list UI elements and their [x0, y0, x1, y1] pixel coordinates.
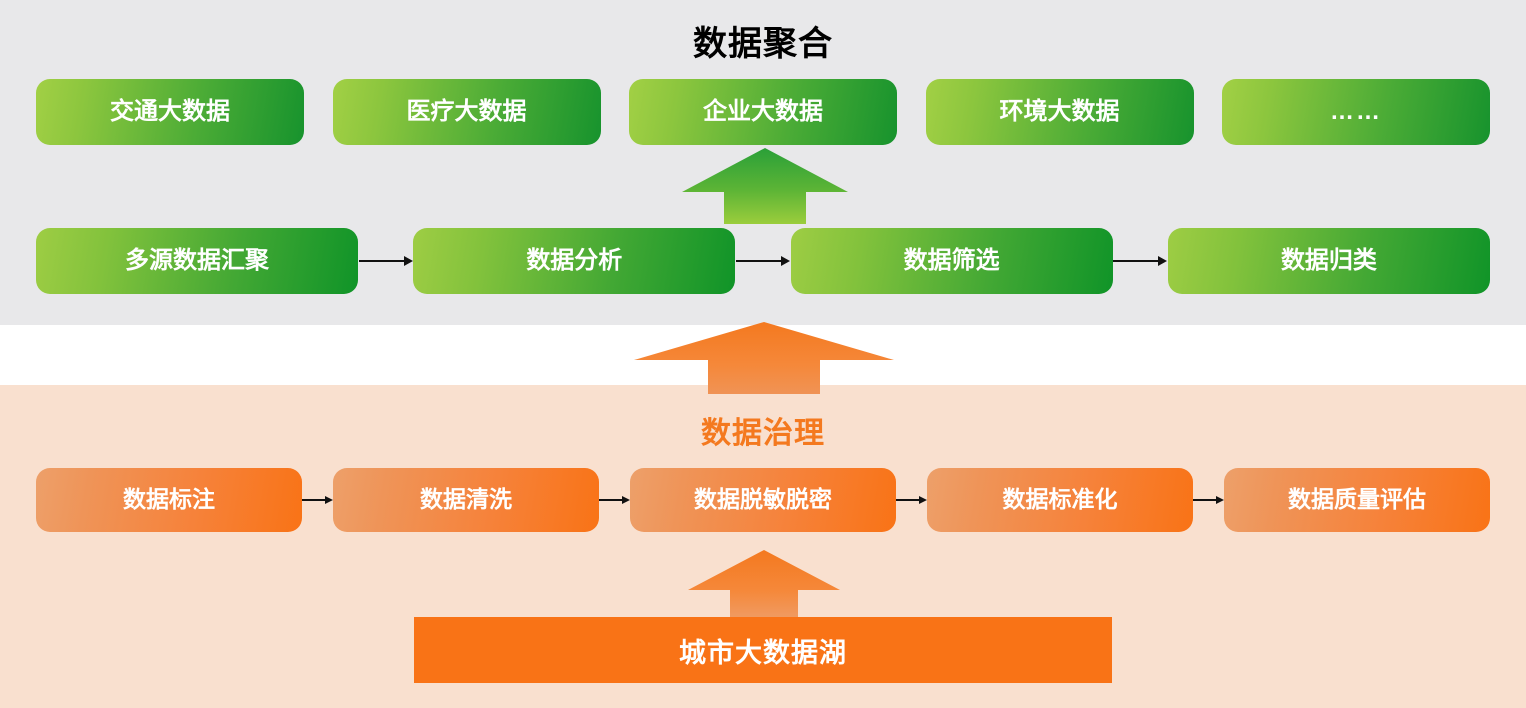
- source-chip[interactable]: 交通大数据: [36, 79, 304, 145]
- source-chip-more[interactable]: ……: [1222, 79, 1490, 145]
- pipeline-chip-label: 数据筛选: [904, 248, 1000, 274]
- governance-chip-label: 数据清洗: [420, 487, 512, 512]
- pipeline-chip-label: 数据归类: [1281, 248, 1377, 274]
- arrow-head: [325, 496, 333, 504]
- source-chip-label: 交通大数据: [110, 99, 230, 125]
- arrow-shaft: [599, 499, 623, 501]
- up-arrow-orange-icon: [634, 322, 894, 394]
- arrow-shaft: [896, 499, 920, 501]
- pipeline-chip-row: 多源数据汇聚 数据分析 数据筛选 数据归类: [36, 228, 1490, 294]
- pipeline-chip[interactable]: 数据筛选: [791, 228, 1113, 294]
- arrow-right-icon: [736, 256, 790, 266]
- governance-chip[interactable]: 数据标准化: [927, 468, 1193, 532]
- governance-chip-row: 数据标注 数据清洗 数据脱敏脱密 数据标准化 数据质量评估: [36, 468, 1490, 532]
- arrow-right-icon: [359, 256, 413, 266]
- source-chip-label: ……: [1330, 99, 1382, 125]
- data-lake-label: 城市大数据湖: [679, 631, 847, 670]
- source-chip[interactable]: 企业大数据: [629, 79, 897, 145]
- arrow-right-icon: [1113, 256, 1167, 266]
- diagram-canvas: 数据聚合 数据治理: [0, 0, 1526, 708]
- governance-title: 数据治理: [0, 408, 1526, 452]
- pipeline-chip-label: 多源数据汇聚: [125, 248, 269, 274]
- arrow-head: [781, 256, 790, 266]
- pipeline-chip[interactable]: 数据归类: [1168, 228, 1490, 294]
- source-chip[interactable]: 环境大数据: [926, 79, 1194, 145]
- source-chip-row: 交通大数据 医疗大数据 企业大数据 环境大数据 ……: [36, 79, 1490, 145]
- up-arrow-orange-bottom-icon: [688, 550, 840, 618]
- arrow-shaft: [736, 260, 782, 262]
- arrow-head: [622, 496, 630, 504]
- page-title: 数据聚合: [0, 16, 1526, 65]
- arrow-head: [919, 496, 927, 504]
- data-lake-bar[interactable]: 城市大数据湖: [414, 617, 1112, 683]
- governance-chip-label: 数据标准化: [1003, 487, 1118, 512]
- governance-chip[interactable]: 数据质量评估: [1224, 468, 1490, 532]
- up-arrow-green-icon: [682, 148, 848, 224]
- arrow-right-icon: [896, 496, 927, 504]
- arrow-right-icon: [599, 496, 630, 504]
- governance-chip[interactable]: 数据清洗: [333, 468, 599, 532]
- governance-chip[interactable]: 数据脱敏脱密: [630, 468, 896, 532]
- arrow-head: [1158, 256, 1167, 266]
- pipeline-chip[interactable]: 多源数据汇聚: [36, 228, 358, 294]
- source-chip-label: 环境大数据: [1000, 99, 1120, 125]
- pipeline-chip[interactable]: 数据分析: [413, 228, 735, 294]
- arrow-shaft: [302, 499, 326, 501]
- arrow-shaft: [1113, 260, 1159, 262]
- arrow-head: [404, 256, 413, 266]
- pipeline-chip-label: 数据分析: [526, 248, 622, 274]
- source-chip-label: 医疗大数据: [407, 99, 527, 125]
- governance-chip-label: 数据质量评估: [1288, 487, 1426, 512]
- governance-chip-label: 数据脱敏脱密: [694, 487, 832, 512]
- arrow-shaft: [359, 260, 405, 262]
- governance-chip[interactable]: 数据标注: [36, 468, 302, 532]
- arrow-right-icon: [1193, 496, 1224, 504]
- source-chip-label: 企业大数据: [703, 99, 823, 125]
- source-chip[interactable]: 医疗大数据: [333, 79, 601, 145]
- governance-chip-label: 数据标注: [123, 487, 215, 512]
- arrow-right-icon: [302, 496, 333, 504]
- arrow-head: [1216, 496, 1224, 504]
- arrow-shaft: [1193, 499, 1217, 501]
